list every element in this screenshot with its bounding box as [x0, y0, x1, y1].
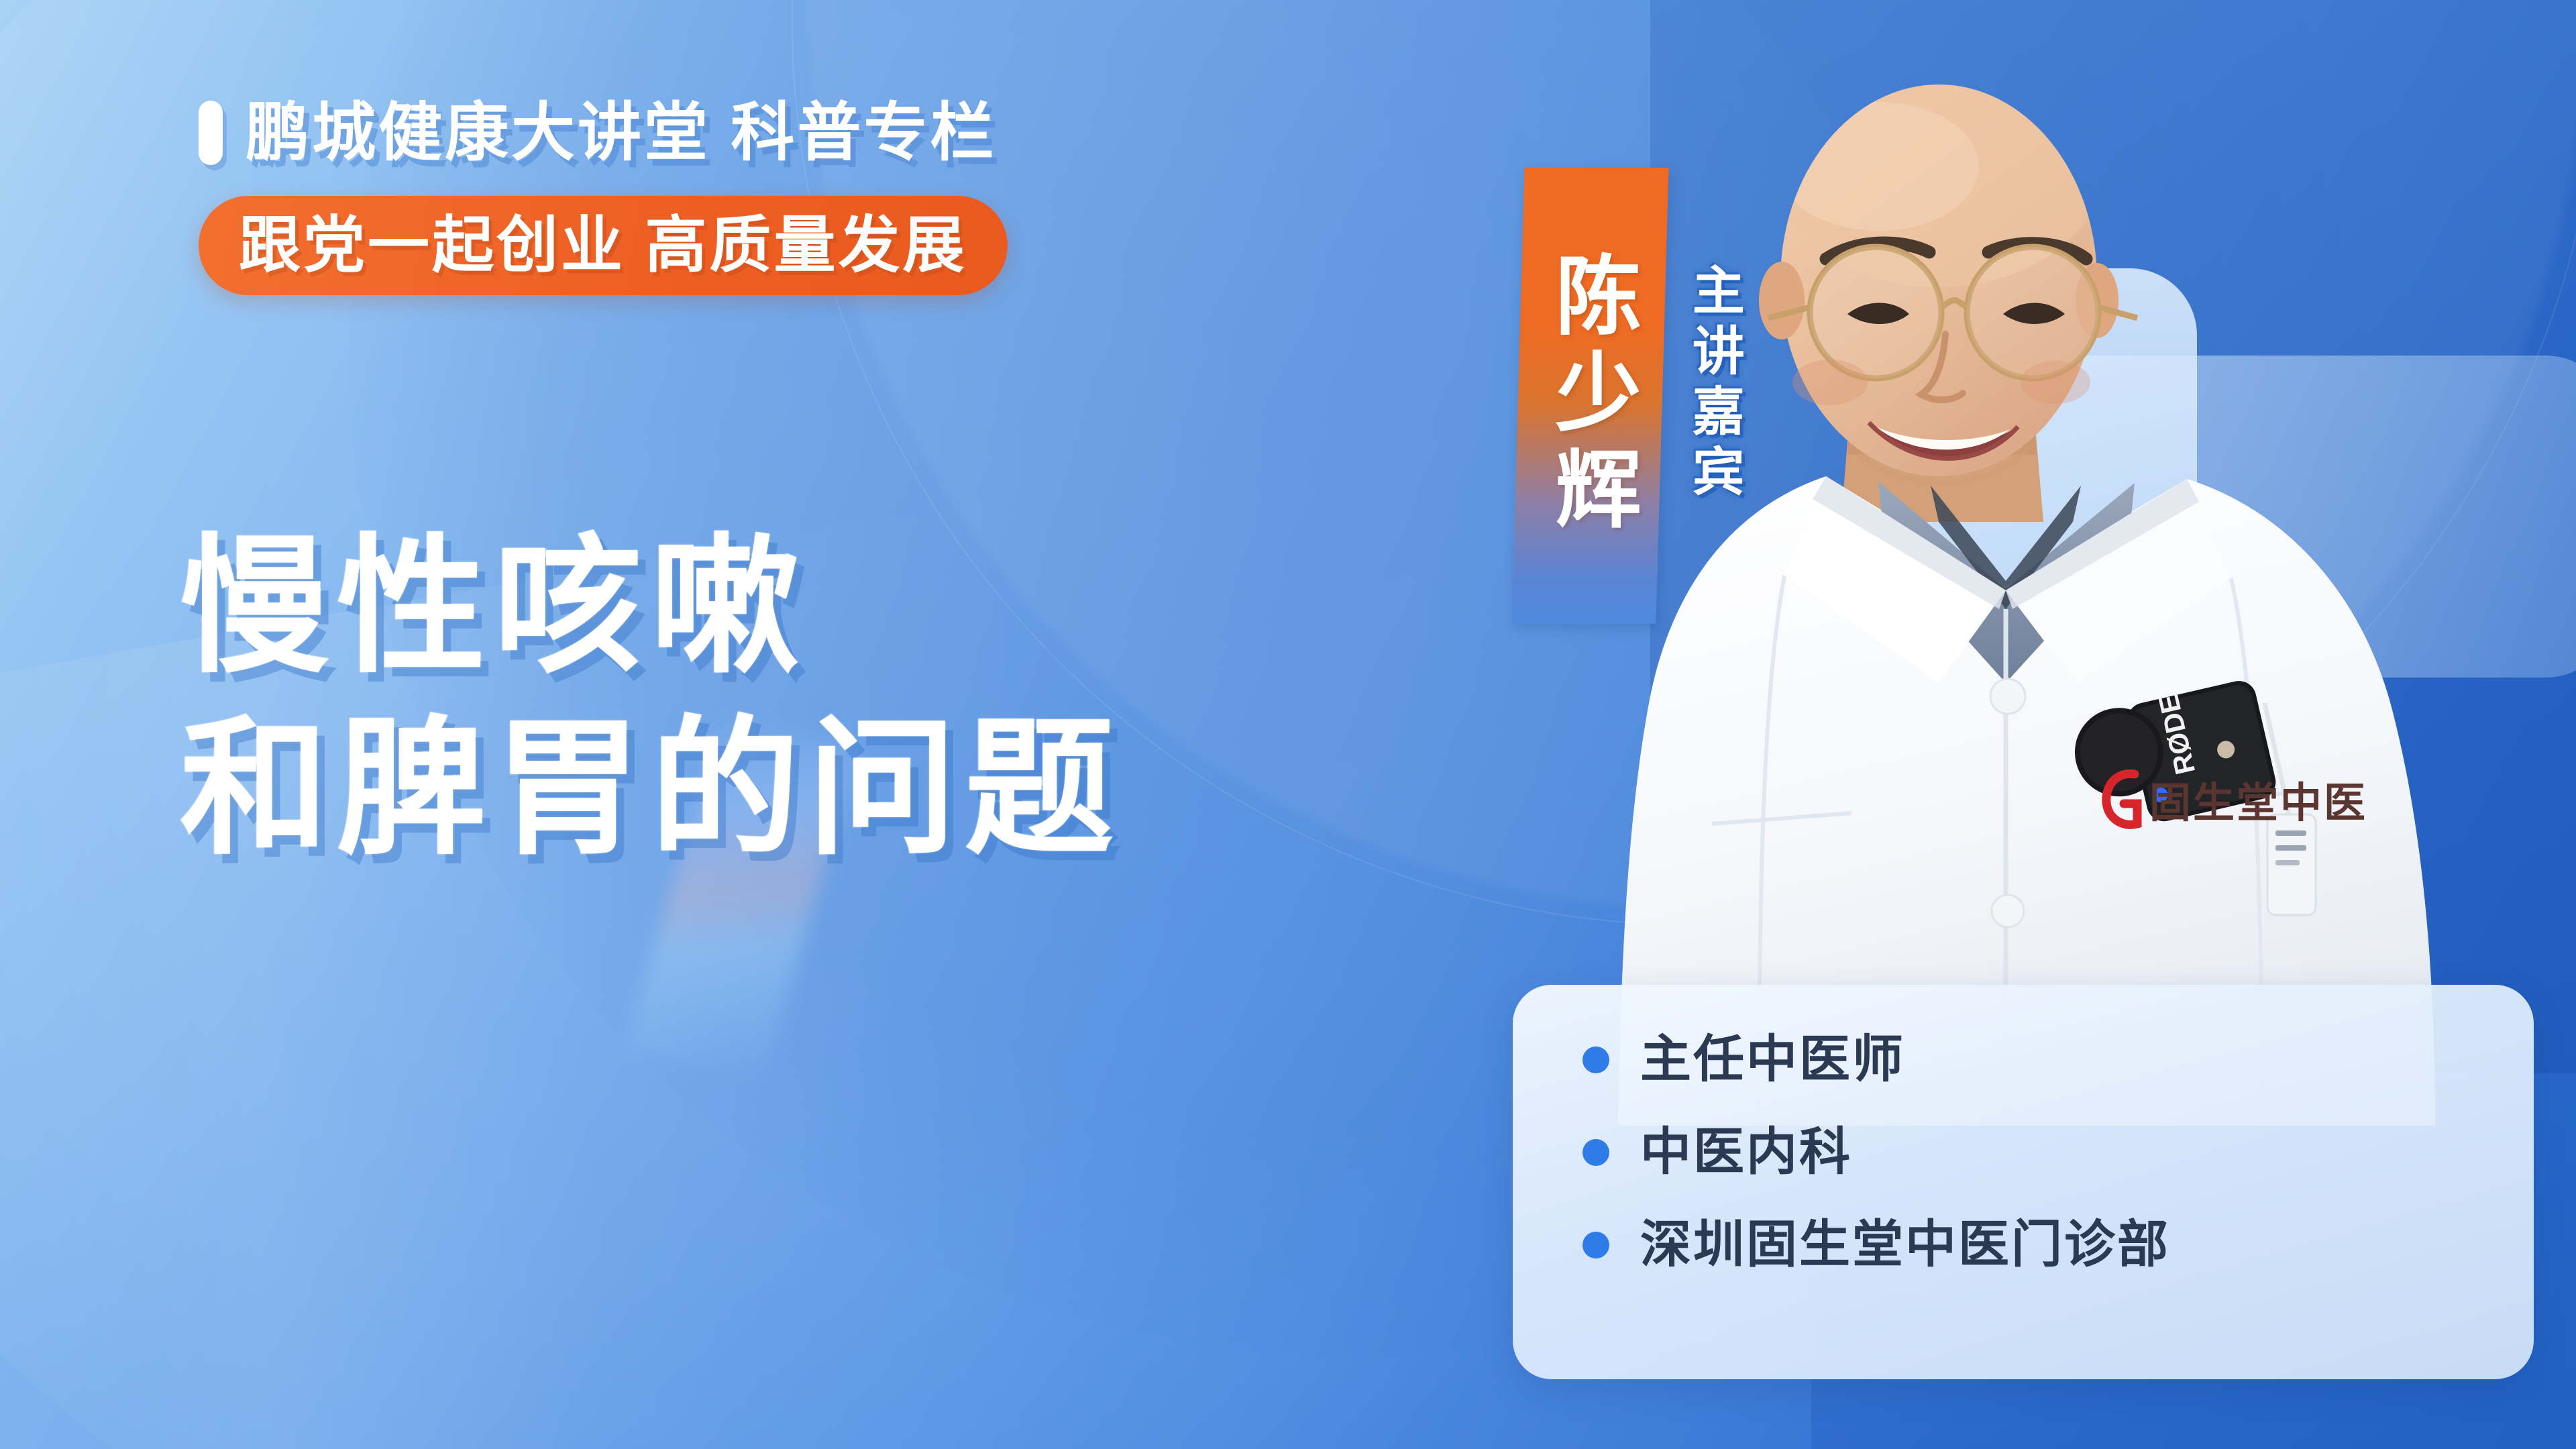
credential-label: 中医内科: [1640, 1127, 1852, 1178]
bullet-dot-icon: [1582, 1232, 1609, 1258]
title-line-1: 慢性咳嗽: [180, 517, 1122, 698]
slogan-pill-label: 跟党一起创业 高质量发展: [239, 215, 967, 276]
page-title: 慢性咳嗽 和脾胃的问题: [180, 517, 1122, 880]
credential-label: 主任中医师: [1640, 1034, 1905, 1085]
credentials-card: 主任中医师 中医内科 深圳固生堂中医门诊部: [1513, 985, 2534, 1379]
bullet-dot-icon: [1582, 1139, 1609, 1166]
speaker-role-label: 主讲嘉宾: [1685, 263, 1743, 504]
program-kicker-label: 鹏城健康大讲堂 科普专栏: [246, 101, 996, 165]
slogan-pill: 跟党一起创业 高质量发展: [199, 196, 1008, 295]
header-block: 鹏城健康大讲堂 科普专栏 跟党一起创业 高质量发展: [199, 101, 1008, 295]
speaker-name-label: 陈少辉: [1546, 251, 1635, 541]
poster-canvas: RØDE 固生堂中医 鹏城健康大讲堂 科普专栏 跟党一起创业 高质量发展: [0, 0, 2576, 1449]
program-kicker: 鹏城健康大讲堂 科普专栏: [199, 101, 1008, 165]
bullet-dot-icon: [1582, 1046, 1609, 1073]
list-item: 主任中医师: [1582, 1034, 2534, 1085]
speaker-portrait: RØDE 固生堂中医: [1563, 79, 2516, 1126]
list-item: 中医内科: [1582, 1127, 2534, 1178]
list-item: 深圳固生堂中医门诊部: [1582, 1220, 2534, 1271]
speaker-name-banner: 陈少辉: [1512, 168, 1669, 624]
vertical-bar-marker-icon: [199, 101, 223, 165]
title-line-2: 和脾胃的问题: [180, 698, 1122, 880]
credential-label: 深圳固生堂中医门诊部: [1640, 1220, 2170, 1271]
svg-text:固生堂中医: 固生堂中医: [2149, 780, 2367, 826]
